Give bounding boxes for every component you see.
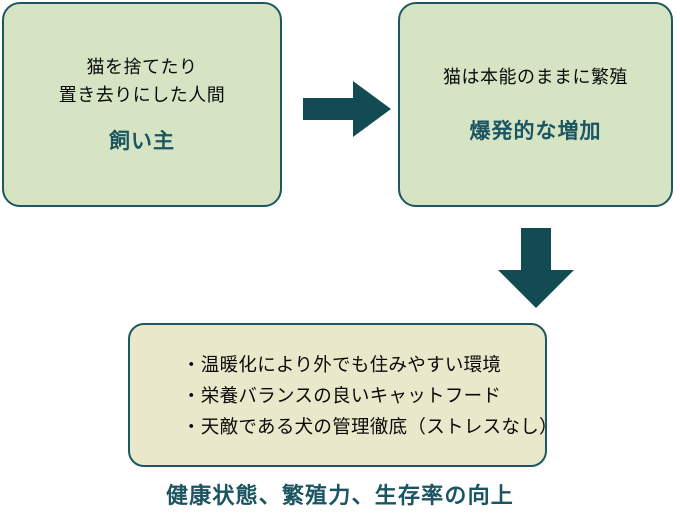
cause-box-text-block: 猫を捨てたり 置き去りにした人間 飼い主 [59,53,226,157]
cause-box: 猫を捨てたり 置き去りにした人間 飼い主 [2,2,282,207]
effect-line-1: 猫は本能のままに繁殖 [443,63,628,91]
conclusion-caption: 健康状態、繁殖力、生存率の向上 [0,478,680,510]
effect-box: 猫は本能のままに繁殖 爆発的な増加 [398,2,673,207]
cause-line-2: 置き去りにした人間 [59,81,226,109]
cause-line-1: 猫を捨てたり [87,53,198,81]
diagram-canvas: 猫を捨てたり 置き去りにした人間 飼い主 猫は本能のままに繁殖 爆発的な増加 ・… [0,0,680,520]
arrow-right-icon [303,81,391,137]
factor-item-2: ・栄養バランスの良いキャットフード [182,380,501,411]
arrow-down-icon [498,228,574,308]
factors-box: ・温暖化により外でも住みやすい環境 ・栄養バランスの良いキャットフード ・天敵で… [128,323,547,467]
cause-emphasis: 飼い主 [109,127,175,157]
effect-emphasis: 爆発的な増加 [470,117,602,147]
factor-item-3: ・天敵である犬の管理徹底（ストレスなし） [182,411,558,442]
factor-item-1: ・温暖化により外でも住みやすい環境 [182,349,501,380]
effect-box-text-block: 猫は本能のままに繁殖 爆発的な増加 [443,63,628,147]
